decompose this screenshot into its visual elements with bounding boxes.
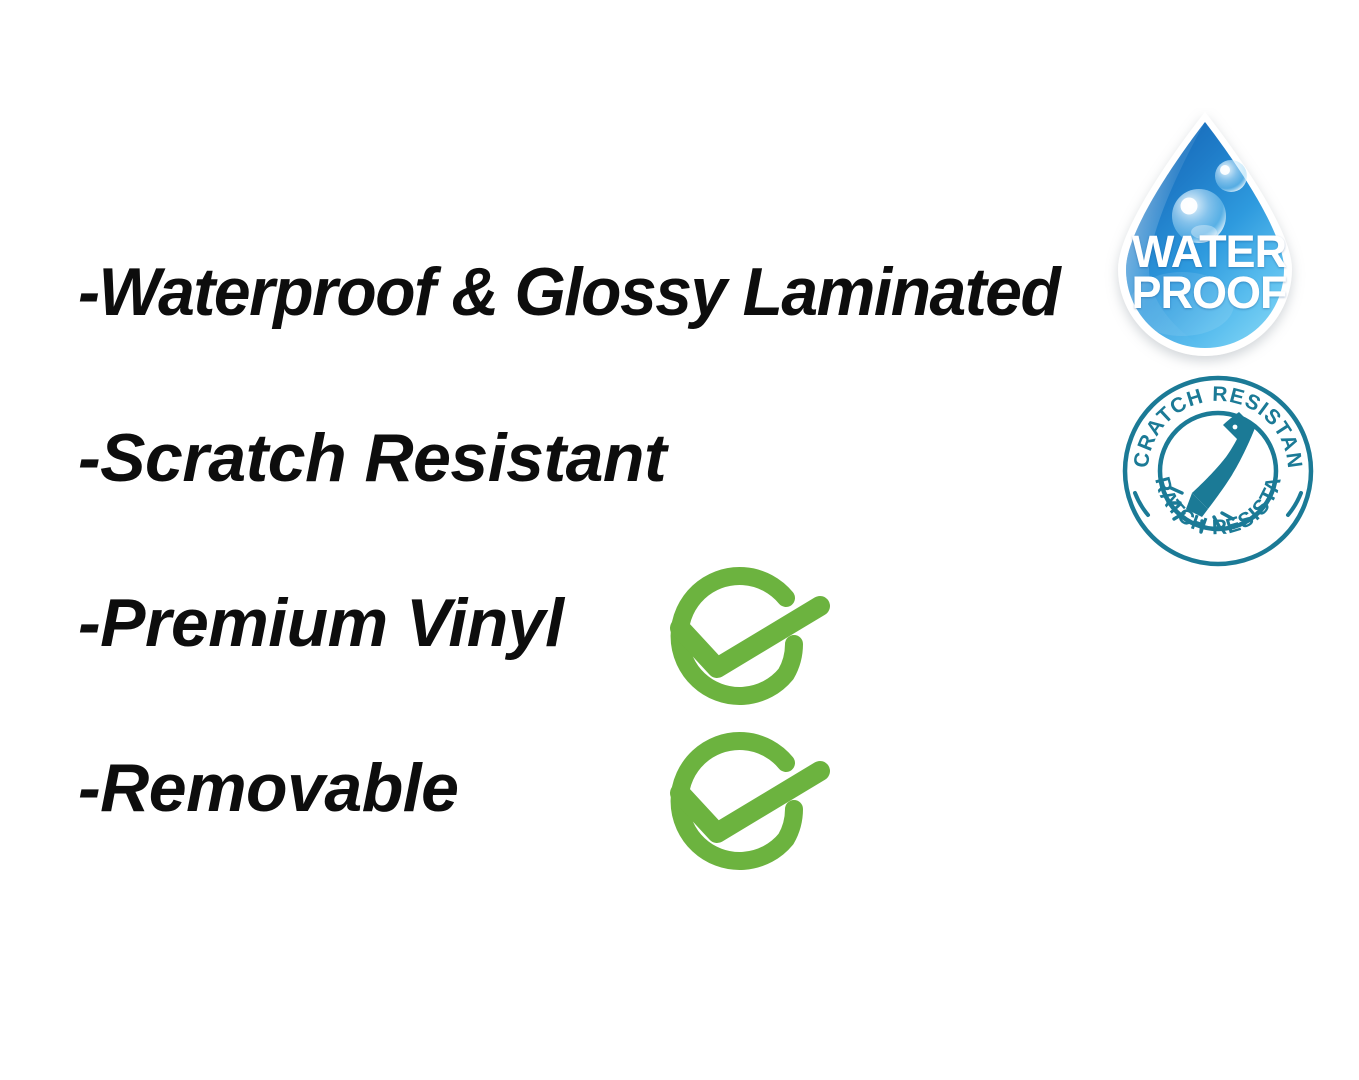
product-feature-graphic: -Waterproof & Glossy Laminated -Scratch … bbox=[0, 0, 1359, 1080]
check-circle-icon bbox=[634, 721, 834, 886]
feature-item-scratch-resistant: -Scratch Resistant bbox=[78, 424, 666, 492]
feature-item-premium-vinyl: -Premium Vinyl bbox=[78, 589, 564, 657]
feature-item-waterproof-glossy-laminated: -Waterproof & Glossy Laminated bbox=[78, 258, 1059, 326]
waterproof-badge: WATER PROOF bbox=[1104, 108, 1314, 370]
knife-stamp-icon: SCRATCH RESISTANT SCRATCH RESISTANT bbox=[1122, 375, 1314, 567]
scratch-resistant-text-top: SCRATCH RESISTANT bbox=[1122, 375, 1306, 470]
scratch-resistant-badge: SCRATCH RESISTANT SCRATCH RESISTANT bbox=[1122, 375, 1314, 567]
water-drop-icon bbox=[1104, 108, 1314, 370]
check-circle-icon bbox=[634, 556, 834, 721]
svg-text:SCRATCH RESISTANT: SCRATCH RESISTANT bbox=[1122, 375, 1306, 470]
feature-item-removable: -Removable bbox=[78, 754, 458, 822]
